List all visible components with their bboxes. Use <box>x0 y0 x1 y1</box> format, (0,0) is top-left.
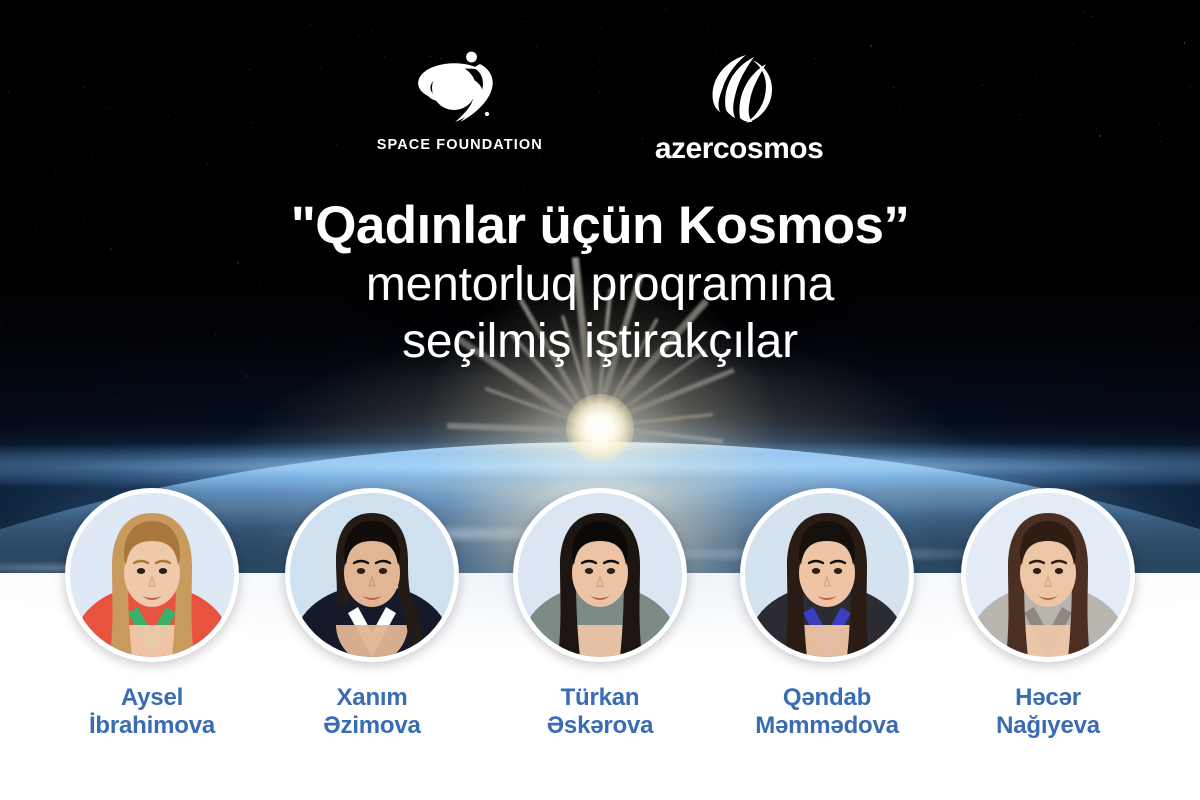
azercosmos-logo: azercosmos <box>655 46 823 164</box>
logo-row: SPACE FOUNDATION azercosmos <box>0 46 1200 164</box>
poster-canvas: SPACE FOUNDATION azercosmos "Qadınlar üç… <box>0 0 1200 800</box>
participant-card[interactable]: QəndabMəmmədova <box>729 488 925 741</box>
participant-first-name: Türkan <box>561 684 640 711</box>
participant-last-name: Əzimova <box>323 712 420 739</box>
portrait-illustration <box>518 493 682 657</box>
portrait-illustration <box>966 493 1130 657</box>
title-line-2: mentorluq proqramına <box>0 257 1200 314</box>
participant-name: Ayselİbrahimova <box>54 684 250 741</box>
poster-title: "Qadınlar üçün Kosmos” mentorluq proqram… <box>0 196 1200 371</box>
participant-first-name: Qəndab <box>783 684 871 711</box>
space-foundation-wordmark: SPACE FOUNDATION <box>377 138 543 153</box>
participant-first-name: Xanım <box>336 684 407 711</box>
title-line-3: seçilmiş iştirakçılar <box>0 314 1200 371</box>
participant-name: HəcərNağıyeva <box>950 684 1146 741</box>
participant-row: AyselİbrahimovaXanımƏzimovaTürkanƏskərov… <box>0 488 1200 788</box>
participant-last-name: İbrahimova <box>89 712 215 739</box>
cosmos-swoosh-icon <box>696 46 782 128</box>
portrait-ring <box>961 488 1135 662</box>
portrait-illustration <box>290 493 454 657</box>
azercosmos-wordmark: azercosmos <box>655 134 823 164</box>
portrait-ring <box>285 488 459 662</box>
portrait-ring <box>65 488 239 662</box>
portrait-illustration <box>745 493 909 657</box>
portrait-turkan-eskerova <box>518 493 682 657</box>
participant-first-name: Aysel <box>121 684 183 711</box>
portrait-ring <box>513 488 687 662</box>
planet-orbit-icon <box>408 46 512 134</box>
participant-card[interactable]: TürkanƏskərova <box>502 488 698 741</box>
participant-name: XanımƏzimova <box>274 684 470 741</box>
participant-last-name: Əskərova <box>547 712 654 739</box>
portrait-xanim-ezimova <box>290 493 454 657</box>
portrait-hecer-nagiyeva <box>966 493 1130 657</box>
title-line-1: "Qadınlar üçün Kosmos” <box>0 196 1200 255</box>
participant-card[interactable]: Ayselİbrahimova <box>54 488 250 741</box>
sun-core <box>566 394 634 462</box>
portrait-qendab-memmedova <box>745 493 909 657</box>
portrait-aysel-ibrahimova <box>70 493 234 657</box>
participant-last-name: Məmmədova <box>755 712 899 739</box>
participant-card[interactable]: HəcərNağıyeva <box>950 488 1146 741</box>
participant-first-name: Həcər <box>1015 684 1081 711</box>
space-foundation-logo: SPACE FOUNDATION <box>377 46 543 153</box>
participant-name: TürkanƏskərova <box>502 684 698 741</box>
portrait-illustration <box>70 493 234 657</box>
participant-name: QəndabMəmmədova <box>729 684 925 741</box>
participant-card[interactable]: XanımƏzimova <box>274 488 470 741</box>
portrait-ring <box>740 488 914 662</box>
participant-last-name: Nağıyeva <box>996 712 1100 739</box>
